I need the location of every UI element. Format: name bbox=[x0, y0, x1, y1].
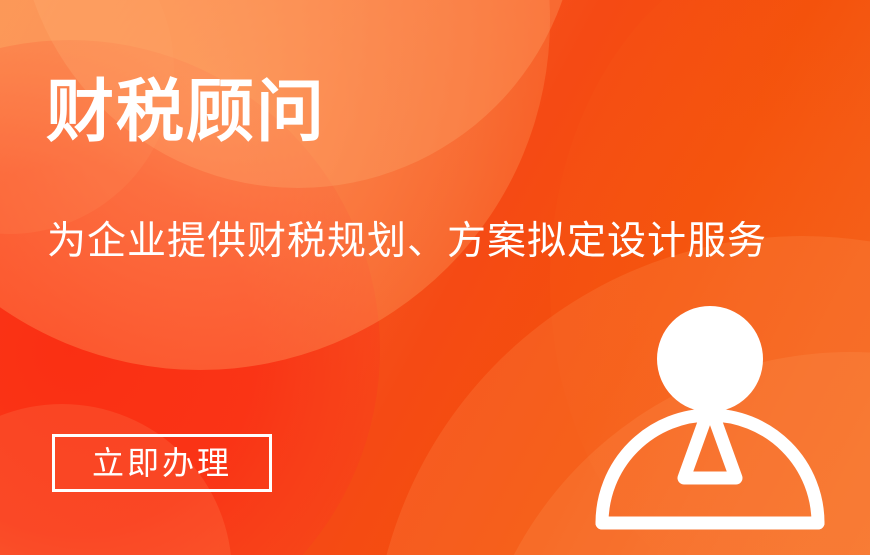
apply-now-button[interactable]: 立即办理 bbox=[52, 434, 272, 492]
person-advisor-icon bbox=[592, 302, 828, 534]
banner-content: 财税顾问 为企业提供财税规划、方案拟定设计服务 立即办理 bbox=[0, 0, 870, 555]
promo-banner: 财税顾问 为企业提供财税规划、方案拟定设计服务 立即办理 bbox=[0, 0, 870, 555]
banner-subheadline: 为企业提供财税规划、方案拟定设计服务 bbox=[47, 219, 767, 265]
banner-headline: 财税顾问 bbox=[46, 78, 326, 146]
